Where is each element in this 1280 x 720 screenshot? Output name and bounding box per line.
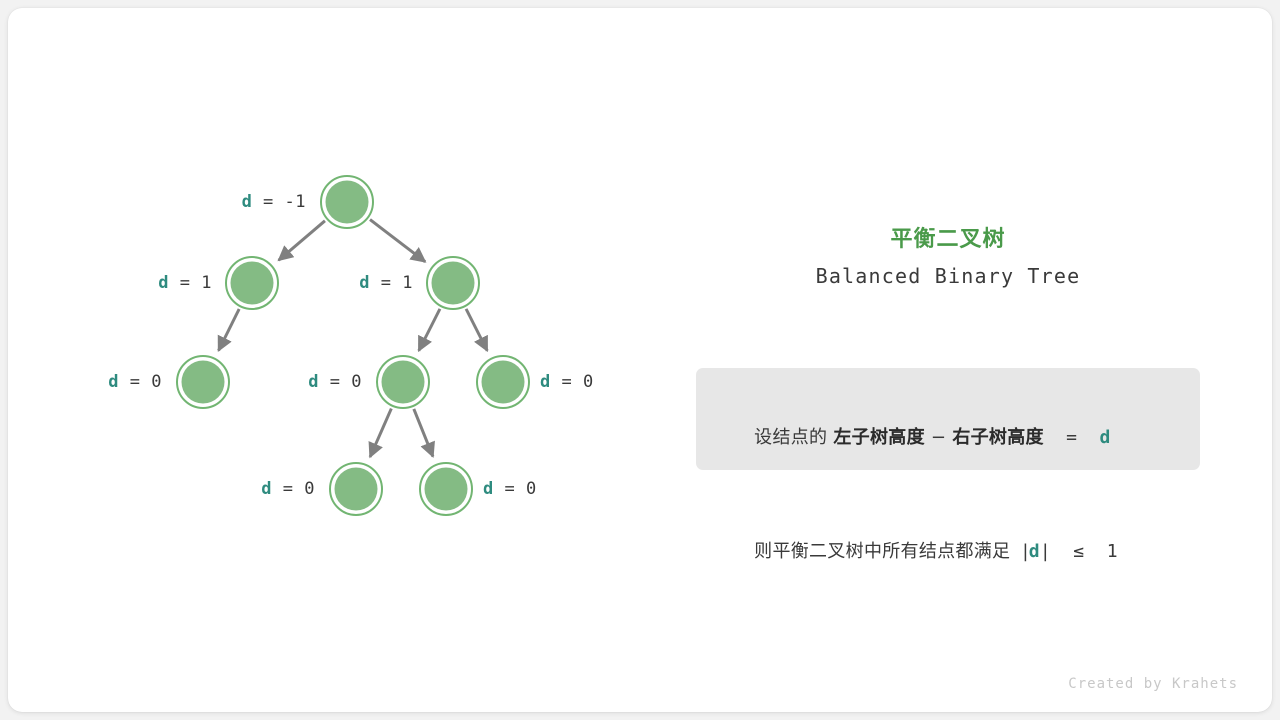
figure-canvas: d = -1d = 1d = 1d = 0d = 0d = 0d = 0d = … [0, 0, 1280, 720]
definition-line-1-text: 设结点的 [754, 427, 833, 448]
node-balance-value: = -1 [252, 192, 306, 212]
definition-box: 设结点的 左子树高度 − 右子树高度 = d 则平衡二叉树中所有结点都满足 |d… [696, 368, 1200, 470]
definition-variable-d: d [1100, 427, 1111, 448]
definition-line-1: 设结点的 左子树高度 − 右子树高度 = d [718, 381, 1178, 495]
tree-edge [279, 221, 325, 260]
node-balance-label: d = 1 [359, 273, 413, 293]
tree-node [427, 257, 479, 309]
tree-nodes [177, 176, 529, 515]
node-balance-variable: d [359, 273, 370, 293]
tree-node-disc [231, 262, 274, 305]
node-balance-variable: d [483, 479, 494, 499]
tree-edge [219, 309, 240, 351]
tree-node [177, 356, 229, 408]
definition-abs-variable-d: d [1029, 541, 1040, 562]
tree-node [321, 176, 373, 228]
node-balance-variable: d [242, 192, 253, 212]
credit-footer: Created by Krahets [1068, 676, 1238, 692]
tree-edges [219, 220, 488, 457]
definition-line-2-text: 则平衡二叉树中所有结点都满足 | [754, 541, 1029, 562]
node-balance-variable: d [158, 273, 169, 293]
node-balance-label: d = 0 [483, 479, 537, 499]
node-balance-variable: d [308, 372, 319, 392]
tree-node-disc [382, 361, 425, 404]
definition-equals-sign: = [1044, 427, 1100, 448]
definition-line-2: 则平衡二叉树中所有结点都满足 |d| ≤ 1 [718, 495, 1178, 609]
definition-minus-sign: − [925, 427, 952, 448]
node-balance-label: d = 0 [108, 372, 162, 392]
tree-edge [414, 409, 433, 457]
node-balance-value: = 0 [551, 372, 594, 392]
definition-right-subtree-height: 右子树高度 [952, 427, 1044, 448]
tree-node [226, 257, 278, 309]
tree-edge [419, 309, 440, 351]
node-balance-variable: d [108, 372, 119, 392]
node-balance-label: d = 0 [261, 479, 315, 499]
node-balance-label: d = -1 [242, 192, 306, 212]
node-balance-value: = 0 [494, 479, 537, 499]
node-balance-variable: d [540, 372, 551, 392]
node-balance-label: d = 1 [158, 273, 212, 293]
tree-node [420, 463, 472, 515]
tree-node-disc [335, 468, 378, 511]
tree-node-disc [326, 181, 369, 224]
tree-node-disc [482, 361, 525, 404]
node-balance-variable: d [261, 479, 272, 499]
tree-node-disc [182, 361, 225, 404]
definition-constraint: | ≤ 1 [1040, 541, 1118, 562]
node-balance-label: d = 0 [540, 372, 594, 392]
tree-edge [370, 220, 425, 262]
tree-edge [466, 309, 487, 351]
node-balance-value: = 0 [319, 372, 362, 392]
tree-edge [370, 409, 391, 457]
page-title: 平衡二叉树 [696, 225, 1200, 255]
page-subtitle: Balanced Binary Tree [696, 263, 1200, 289]
node-balance-value: = 0 [272, 479, 315, 499]
title-panel: 平衡二叉树 Balanced Binary Tree [696, 225, 1200, 289]
node-balance-value: = 1 [169, 273, 212, 293]
tree-node-disc [432, 262, 475, 305]
tree-node [477, 356, 529, 408]
tree-node-disc [425, 468, 468, 511]
node-balance-value: = 1 [370, 273, 413, 293]
node-balance-value: = 0 [119, 372, 162, 392]
binary-tree-diagram [0, 0, 1280, 720]
tree-node [377, 356, 429, 408]
node-balance-label: d = 0 [308, 372, 362, 392]
tree-node [330, 463, 382, 515]
definition-left-subtree-height: 左子树高度 [833, 427, 925, 448]
